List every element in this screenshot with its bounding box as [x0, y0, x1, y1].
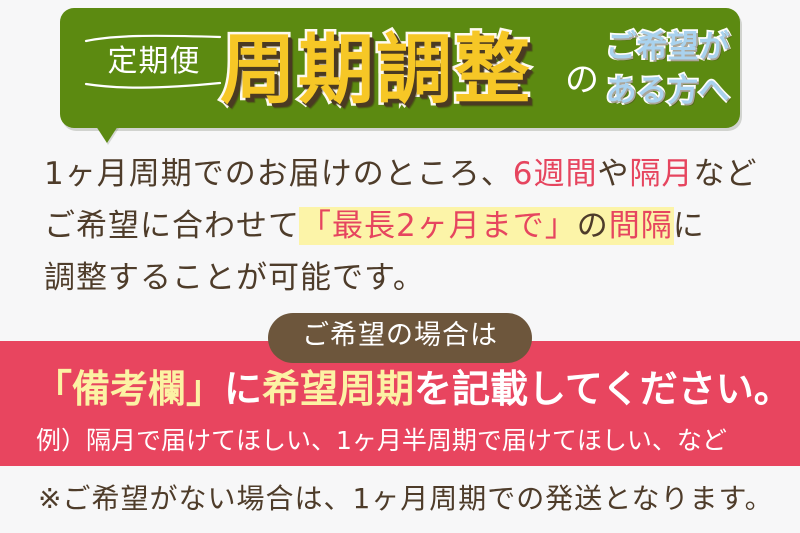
pink-example-text: 例）隔月で届けてほしい、1ヶ月半周期で届けてほしい、など — [36, 424, 727, 458]
body-line-2-part-1: ご希望に合わせて — [44, 208, 300, 244]
body-line-3: 調整することが可能です。 — [0, 252, 800, 304]
subscription-label: 定期便 — [108, 44, 201, 79]
body-line-1: 1ヶ月周期でのお届けのところ、6週間や隔月など — [0, 148, 800, 200]
highlight-particle: の — [577, 208, 609, 244]
body-line-2-part-2: に — [673, 208, 705, 244]
body-paragraph: 1ヶ月周期でのお届けのところ、6週間や隔月など ご希望に合わせて「最長2ヶ月まで… — [0, 148, 800, 304]
wish-line-1: ご希望が — [605, 25, 730, 69]
body-line-1-part-1: 1ヶ月周期でのお届けのところ、 — [44, 156, 513, 192]
body-line-2-highlight: 「最長2ヶ月まで」の間隔 — [300, 208, 673, 244]
wave-line-bottom-icon — [84, 81, 222, 90]
pink-headline-particle-1: に — [224, 367, 262, 411]
wish-line-2: ある方へ — [605, 69, 730, 113]
body-line-1-part-3: など — [693, 156, 757, 192]
body-line-1-accent-bimonthly: 隔月 — [629, 156, 693, 192]
wave-line-top-icon — [84, 34, 222, 43]
header-banner-content: 定期便 周期調整 の ご希望が ある方へ — [60, 8, 740, 128]
header-banner: 定期便 周期調整 の ご希望が ある方へ — [60, 8, 740, 128]
page-title: 周期調整 — [220, 20, 532, 120]
footer-note: ※ご希望がない場合は、1ヶ月周期での発送となります。 — [38, 478, 774, 520]
body-line-1-accent-6weeks: 6週間 — [513, 156, 598, 192]
pink-headline-remarks-field: 「備考欄」 — [34, 367, 224, 411]
top-section: 定期便 周期調整 の ご希望が ある方へ 1ヶ月周期でのお届けのところ、6週間や… — [0, 0, 800, 341]
highlight-interval: 間隔 — [609, 208, 673, 244]
body-line-2: ご希望に合わせて「最長2ヶ月まで」の間隔に — [0, 200, 800, 252]
body-line-1-part-2: や — [597, 156, 629, 192]
wish-target-block: ご希望が ある方へ — [605, 25, 730, 113]
title-connector: の — [565, 60, 599, 100]
status-badge: ご希望の場合は — [268, 313, 532, 363]
subscription-label-block: 定期便 — [84, 34, 224, 90]
pink-headline-desired-cycle: 希望周期 — [262, 367, 414, 411]
pink-headline-instruction: を記載してください。 — [414, 367, 792, 411]
highlight-max-two-months: 「最長2ヶ月まで」 — [300, 208, 577, 244]
speech-bubble-tail-icon — [96, 126, 118, 143]
pink-headline: 「備考欄」に希望周期を記載してください。 — [34, 364, 792, 414]
